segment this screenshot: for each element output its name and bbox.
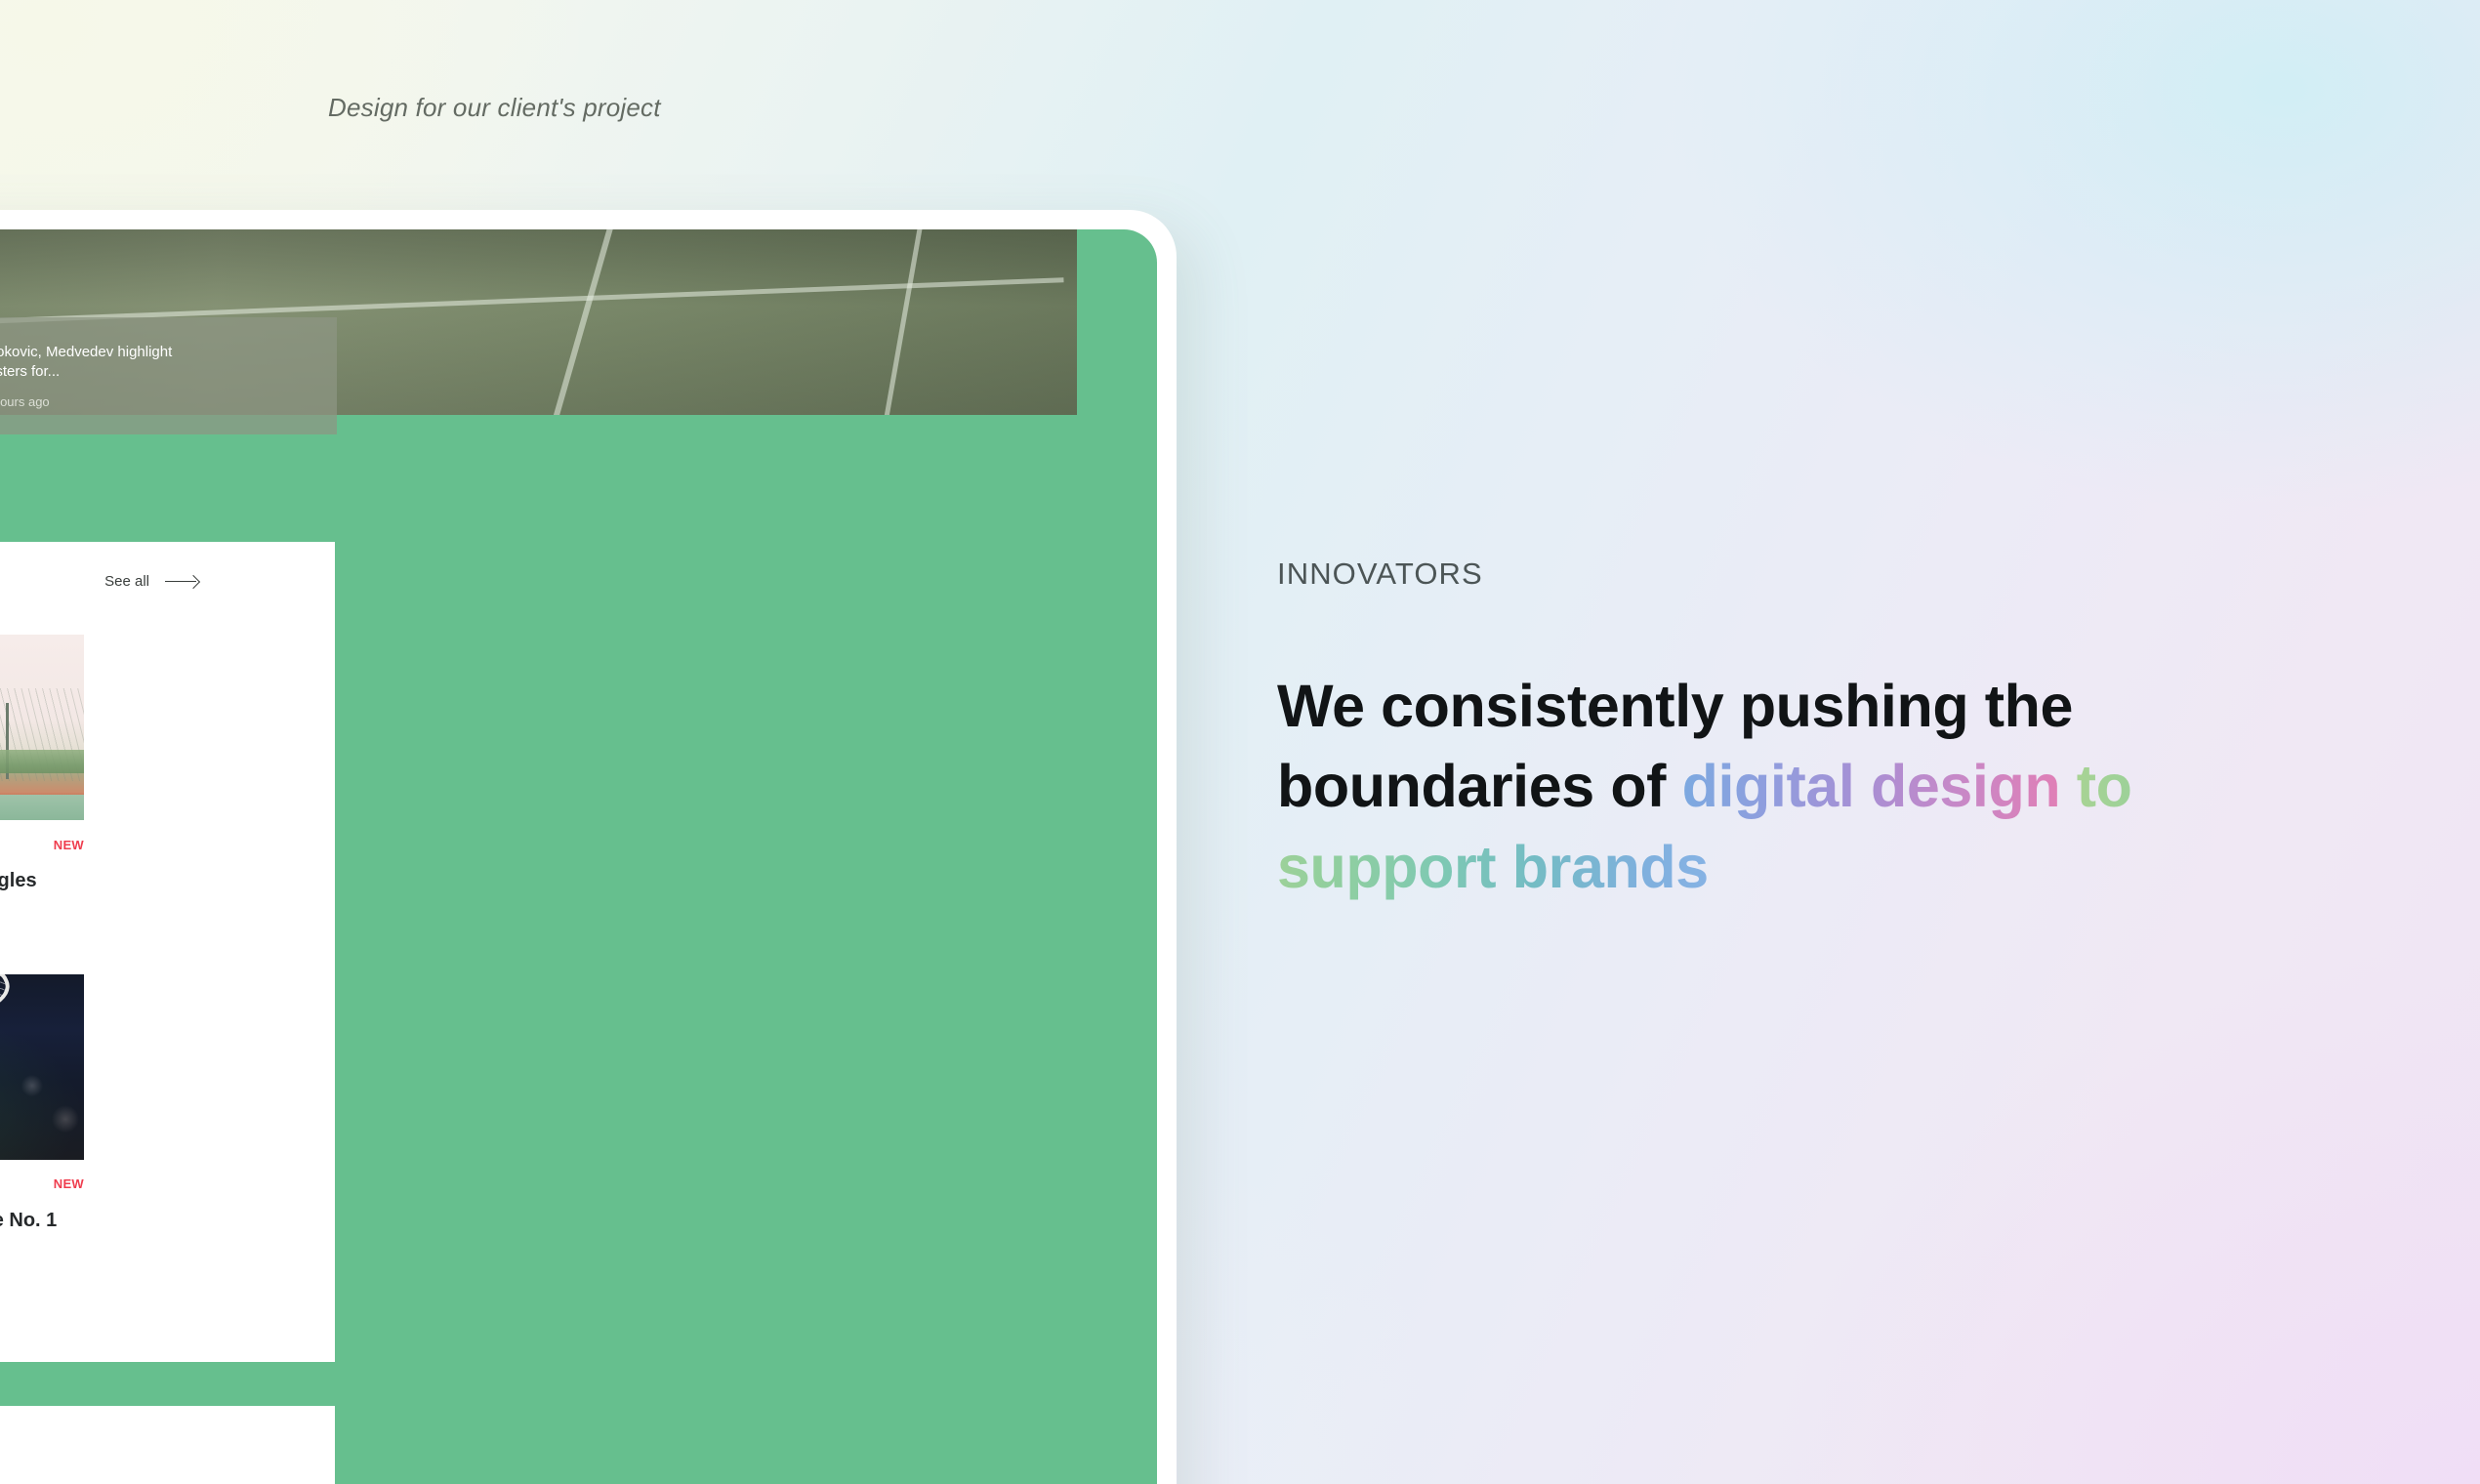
arrow-right-icon [165,576,198,588]
news-card[interactable]: 23.01.2022 2 hours ago NEW Djokovic is t… [0,974,84,1259]
project-caption: Design for our client's project [328,93,661,123]
headline-segment-space [2060,753,2077,819]
crowd-backdrop [0,974,84,1160]
news-content-card: See all NEW is news [0,542,335,1362]
court-surface-green [0,795,84,820]
news-cards-grid: NEW is news NEW [0,635,84,1368]
news-strip-item-title: Djokovic, Medvedev highlight rosters for… [0,343,197,383]
device-screen: Annet Kontaveit embraces spooky in... 2 … [0,229,1157,1484]
card-headline: Can you name every men's singles champio… [0,868,84,920]
treeline [0,750,84,773]
card-meta-row: 23.01.2022 2 hours ago NEW [0,1176,84,1192]
news-strip-item[interactable]: Djokovic, Medvedev highlight rosters for… [0,341,203,411]
status-badge: NEW [54,1176,84,1191]
card-headline: Djokovic is trying to defend the No. 1 A… [0,1208,84,1259]
headline-segment-gradient-one: digital design [1682,753,2061,819]
card-media-djokovic [0,974,84,1160]
eyebrow-label: INNOVATORS [1277,556,2253,592]
headline: We consistently pushing the boundaries o… [1277,666,2253,907]
secondary-content-card [0,1406,335,1484]
see-all-label: See all [104,573,149,590]
tablet-device-mockup: Annet Kontaveit embraces spooky in... 2 … [0,210,1177,1484]
card-meta-row: 23.01.2022 2 hours ago NEW [0,837,84,852]
see-all-link[interactable]: See all [104,573,198,590]
card-media-player [0,635,84,820]
news-strip-item-time: 4 hours ago [0,394,197,409]
hero-news-strip: Annet Kontaveit embraces spooky in... 2 … [0,317,337,434]
marketing-copy-block: INNOVATORS We consistently pushing the b… [1277,556,2253,907]
status-badge: NEW [54,838,84,852]
news-column-right: 23.01.2022 2 hours ago NEW Can you name … [0,635,84,1368]
news-strip-item-text: Djokovic, Medvedev highlight rosters for… [0,341,197,409]
news-card[interactable]: 23.01.2022 2 hours ago NEW Can you name … [0,635,84,920]
